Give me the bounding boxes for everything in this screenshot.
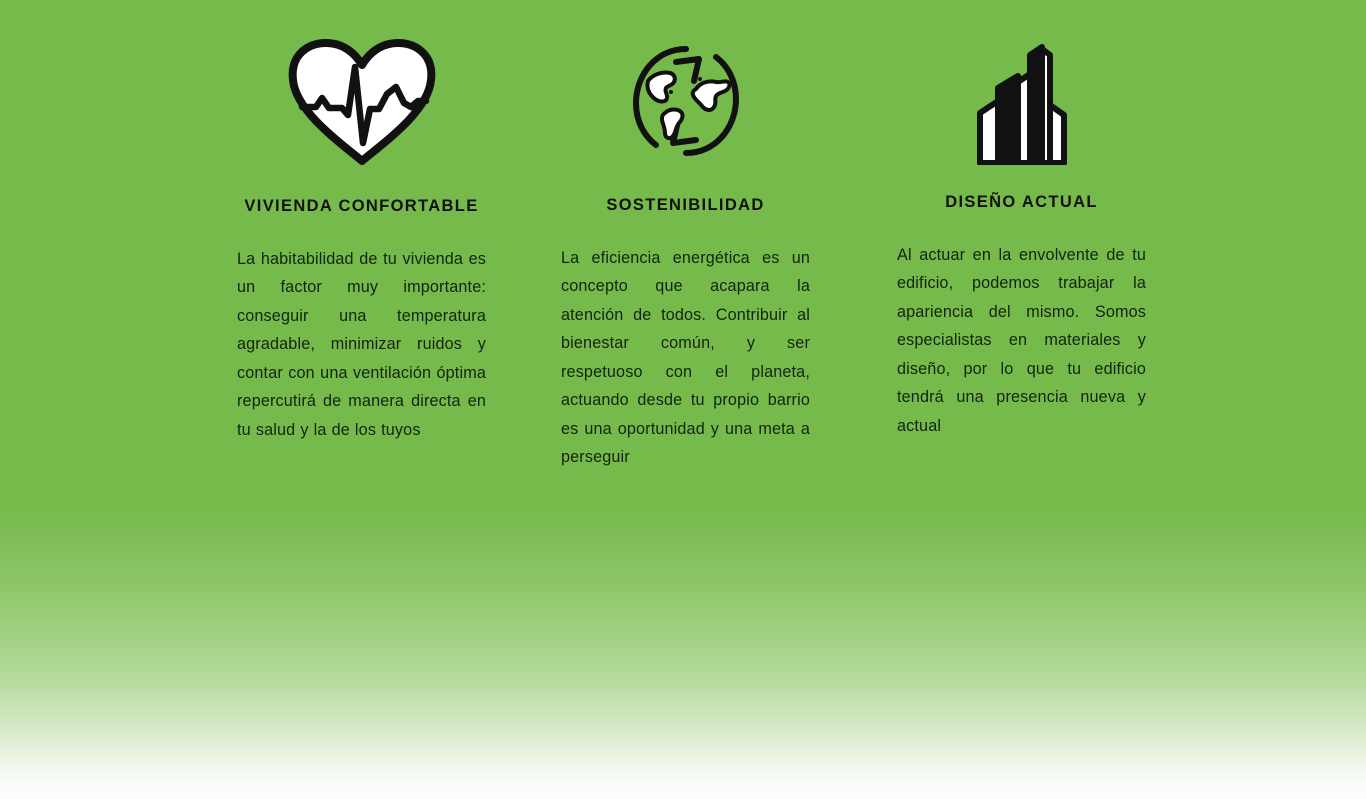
feature-body-text: La habitabilidad de tu vivienda es un fa… <box>237 245 486 445</box>
feature-heading: SOSTENIBILIDAD <box>561 196 810 216</box>
feature-column-diseno: DISEÑO ACTUAL Al actuar en la envolvente… <box>897 30 1146 440</box>
feature-heading: DISEÑO ACTUAL <box>897 193 1146 213</box>
feature-column-sostenibilidad: SOSTENIBILIDAD La eficiencia energética … <box>561 30 810 472</box>
feature-heading: VIVIENDA CONFORTABLE <box>237 197 486 217</box>
city-buildings-icon <box>897 30 1146 170</box>
globe-recycle-icon <box>561 30 810 172</box>
feature-column-vivienda: VIVIENDA CONFORTABLE La habitabilidad de… <box>237 30 486 444</box>
feature-body-text: Al actuar en la envolvente de tu edifici… <box>897 241 1146 441</box>
heart-heartbeat-icon <box>237 30 486 172</box>
feature-body-text: La eficiencia energética es un concepto … <box>561 244 810 472</box>
features-section: VIVIENDA CONFORTABLE La habitabilidad de… <box>0 0 1366 799</box>
